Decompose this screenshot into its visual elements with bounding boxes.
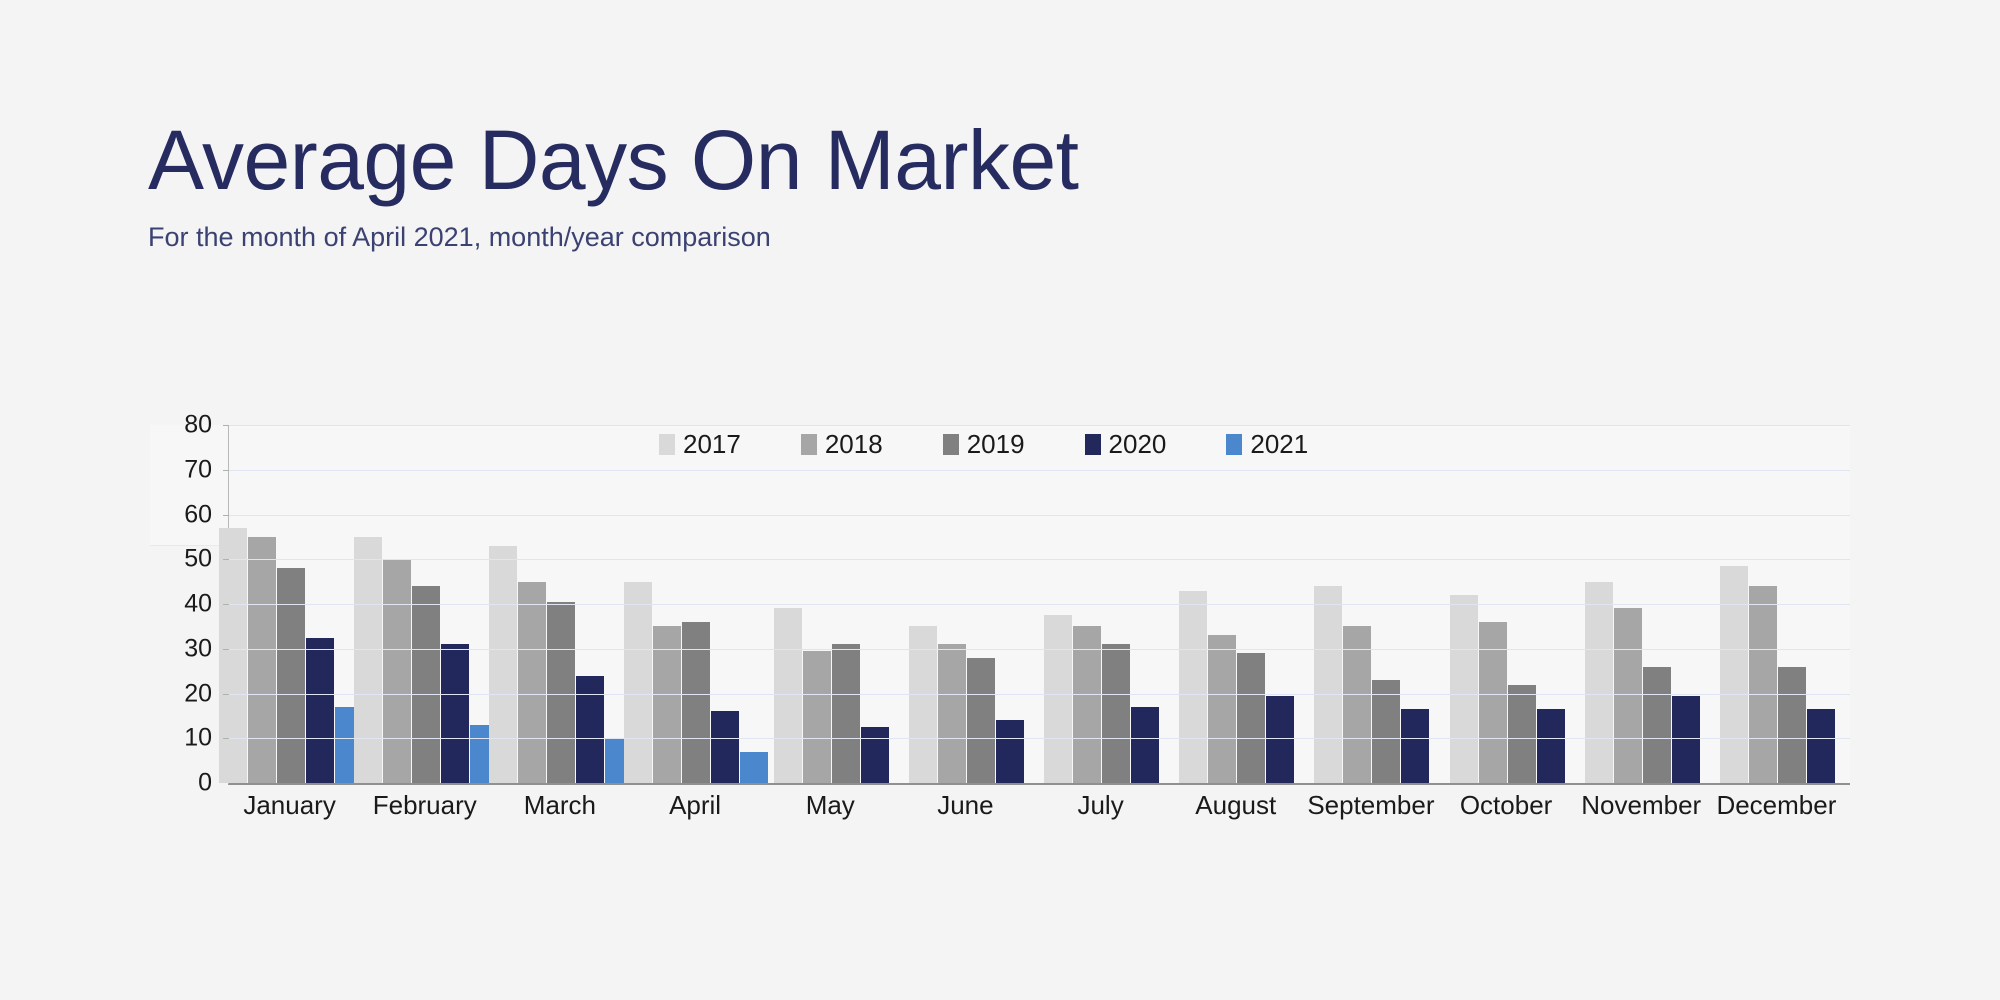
plot-area: 20172018201920202021 1713107: [228, 425, 1850, 785]
x-axis-label-january: January: [243, 790, 336, 821]
bar-2021-April[interactable]: [740, 752, 768, 783]
bar-2020-March[interactable]: [576, 676, 604, 783]
bar-2017-April[interactable]: [624, 582, 652, 783]
y-axis-tick-label: 60: [184, 500, 212, 529]
bar-2018-June[interactable]: [938, 644, 966, 783]
x-axis-label-july: July: [1077, 790, 1123, 821]
bar-2019-February[interactable]: [412, 586, 440, 783]
bar-2020-October[interactable]: [1537, 709, 1565, 783]
chart-header: Average Days On Market For the month of …: [148, 118, 1648, 253]
legend-swatch-icon: [943, 434, 959, 455]
bar-2018-December[interactable]: [1749, 586, 1777, 783]
y-axis-tick-mark: [223, 470, 229, 471]
y-axis-tick-mark: [223, 604, 229, 605]
bar-2017-March[interactable]: [489, 546, 517, 783]
bar-2018-May[interactable]: [803, 651, 831, 783]
bar-2019-April[interactable]: [682, 622, 710, 783]
y-axis-tick-label: 0: [198, 769, 212, 798]
bar-2018-April[interactable]: [653, 626, 681, 783]
bar-2017-May[interactable]: [774, 608, 802, 783]
x-axis-label-march: March: [524, 790, 596, 821]
x-axis-label-november: November: [1581, 790, 1701, 821]
bar-2019-October[interactable]: [1508, 685, 1536, 783]
bar-2018-September[interactable]: [1343, 626, 1371, 783]
legend-item-2021[interactable]: 2021: [1226, 431, 1308, 457]
x-axis-label-august: August: [1195, 790, 1276, 821]
bar-2017-July[interactable]: [1044, 615, 1072, 783]
bar-2017-June[interactable]: [909, 626, 937, 783]
gridline: [229, 470, 1850, 471]
x-axis: JanuaryFebruaryMarchAprilMayJuneJulyAugu…: [228, 790, 1850, 830]
gridline: [229, 694, 1850, 695]
bar-2017-December[interactable]: [1720, 566, 1748, 783]
bar-2019-June[interactable]: [967, 658, 995, 783]
legend-label: 2019: [967, 431, 1025, 457]
legend-item-2018[interactable]: 2018: [801, 431, 883, 457]
bar-2020-June[interactable]: [996, 720, 1024, 783]
bar-2020-February[interactable]: [441, 644, 469, 783]
bar-2018-October[interactable]: [1479, 622, 1507, 783]
bar-2018-February[interactable]: [383, 559, 411, 783]
y-axis-tick-mark: [223, 738, 229, 739]
page-subtitle: For the month of April 2021, month/year …: [148, 222, 1648, 253]
gridline: [229, 559, 1850, 560]
bar-2020-April[interactable]: [711, 711, 739, 783]
y-axis-tick-mark: [223, 559, 229, 560]
legend-swatch-icon: [1226, 434, 1242, 455]
slide-canvas: Average Days On Market For the month of …: [0, 0, 2000, 1000]
bar-2019-January[interactable]: [277, 568, 305, 783]
x-axis-label-june: June: [937, 790, 993, 821]
legend-label: 2020: [1109, 431, 1167, 457]
x-axis-label-april: April: [669, 790, 721, 821]
legend-label: 2021: [1250, 431, 1308, 457]
x-axis-label-december: December: [1716, 790, 1836, 821]
legend-item-2020[interactable]: 2020: [1085, 431, 1167, 457]
bar-2018-November[interactable]: [1614, 608, 1642, 783]
bar-2017-November[interactable]: [1585, 582, 1613, 783]
bar-2017-August[interactable]: [1179, 591, 1207, 783]
gridline: [229, 604, 1850, 605]
page-title: Average Days On Market: [148, 118, 1648, 202]
bar-chart: 80706050403020100 20172018201920202021 1…: [150, 425, 1850, 805]
gridline: [229, 425, 1850, 426]
y-axis-tick-mark: [223, 515, 229, 516]
bar-2017-September[interactable]: [1314, 586, 1342, 783]
bar-2019-November[interactable]: [1643, 667, 1671, 783]
bar-2020-January[interactable]: [306, 638, 334, 783]
bar-2017-February[interactable]: [354, 537, 382, 783]
y-axis-tick-label: 70: [184, 455, 212, 484]
y-axis-tick-mark: [223, 649, 229, 650]
legend-item-2019[interactable]: 2019: [943, 431, 1025, 457]
bar-2018-January[interactable]: [248, 537, 276, 783]
bar-2020-July[interactable]: [1131, 707, 1159, 783]
bar-2017-October[interactable]: [1450, 595, 1478, 783]
y-axis: 80706050403020100: [150, 425, 220, 783]
bar-2018-August[interactable]: [1208, 635, 1236, 783]
gridline: [229, 515, 1850, 516]
legend-item-2017[interactable]: 2017: [659, 431, 741, 457]
bar-2020-May[interactable]: [861, 727, 889, 783]
gridline: [229, 738, 1850, 739]
x-axis-label-february: February: [373, 790, 477, 821]
bar-2020-December[interactable]: [1807, 709, 1835, 783]
legend-label: 2017: [683, 431, 741, 457]
legend-swatch-icon: [801, 434, 817, 455]
bar-2020-September[interactable]: [1401, 709, 1429, 783]
y-axis-tick-label: 10: [184, 724, 212, 753]
legend-label: 2018: [825, 431, 883, 457]
bar-2019-August[interactable]: [1237, 653, 1265, 783]
legend-swatch-icon: [1085, 434, 1101, 455]
bar-2019-March[interactable]: [547, 602, 575, 783]
bar-2018-March[interactable]: [518, 582, 546, 783]
chart-legend: 20172018201920202021: [659, 431, 1308, 457]
bar-2017-January[interactable]: [219, 528, 247, 783]
bar-2018-July[interactable]: [1073, 626, 1101, 783]
y-axis-tick-label: 80: [184, 411, 212, 440]
bar-2019-December[interactable]: [1778, 667, 1806, 783]
y-axis-tick-label: 50: [184, 545, 212, 574]
y-axis-tick-label: 30: [184, 634, 212, 663]
x-axis-label-may: May: [806, 790, 855, 821]
y-axis-tick-label: 40: [184, 590, 212, 619]
y-axis-tick-label: 20: [184, 679, 212, 708]
bar-2019-May[interactable]: [832, 644, 860, 783]
gridline: [229, 649, 1850, 650]
bar-2020-November[interactable]: [1672, 696, 1700, 783]
bar-2019-July[interactable]: [1102, 644, 1130, 783]
bar-2020-August[interactable]: [1266, 696, 1294, 783]
x-axis-label-october: October: [1460, 790, 1553, 821]
y-axis-tick-mark: [223, 694, 229, 695]
x-axis-label-september: September: [1307, 790, 1434, 821]
bar-2019-September[interactable]: [1372, 680, 1400, 783]
legend-swatch-icon: [659, 434, 675, 455]
y-axis-tick-mark: [223, 425, 229, 426]
